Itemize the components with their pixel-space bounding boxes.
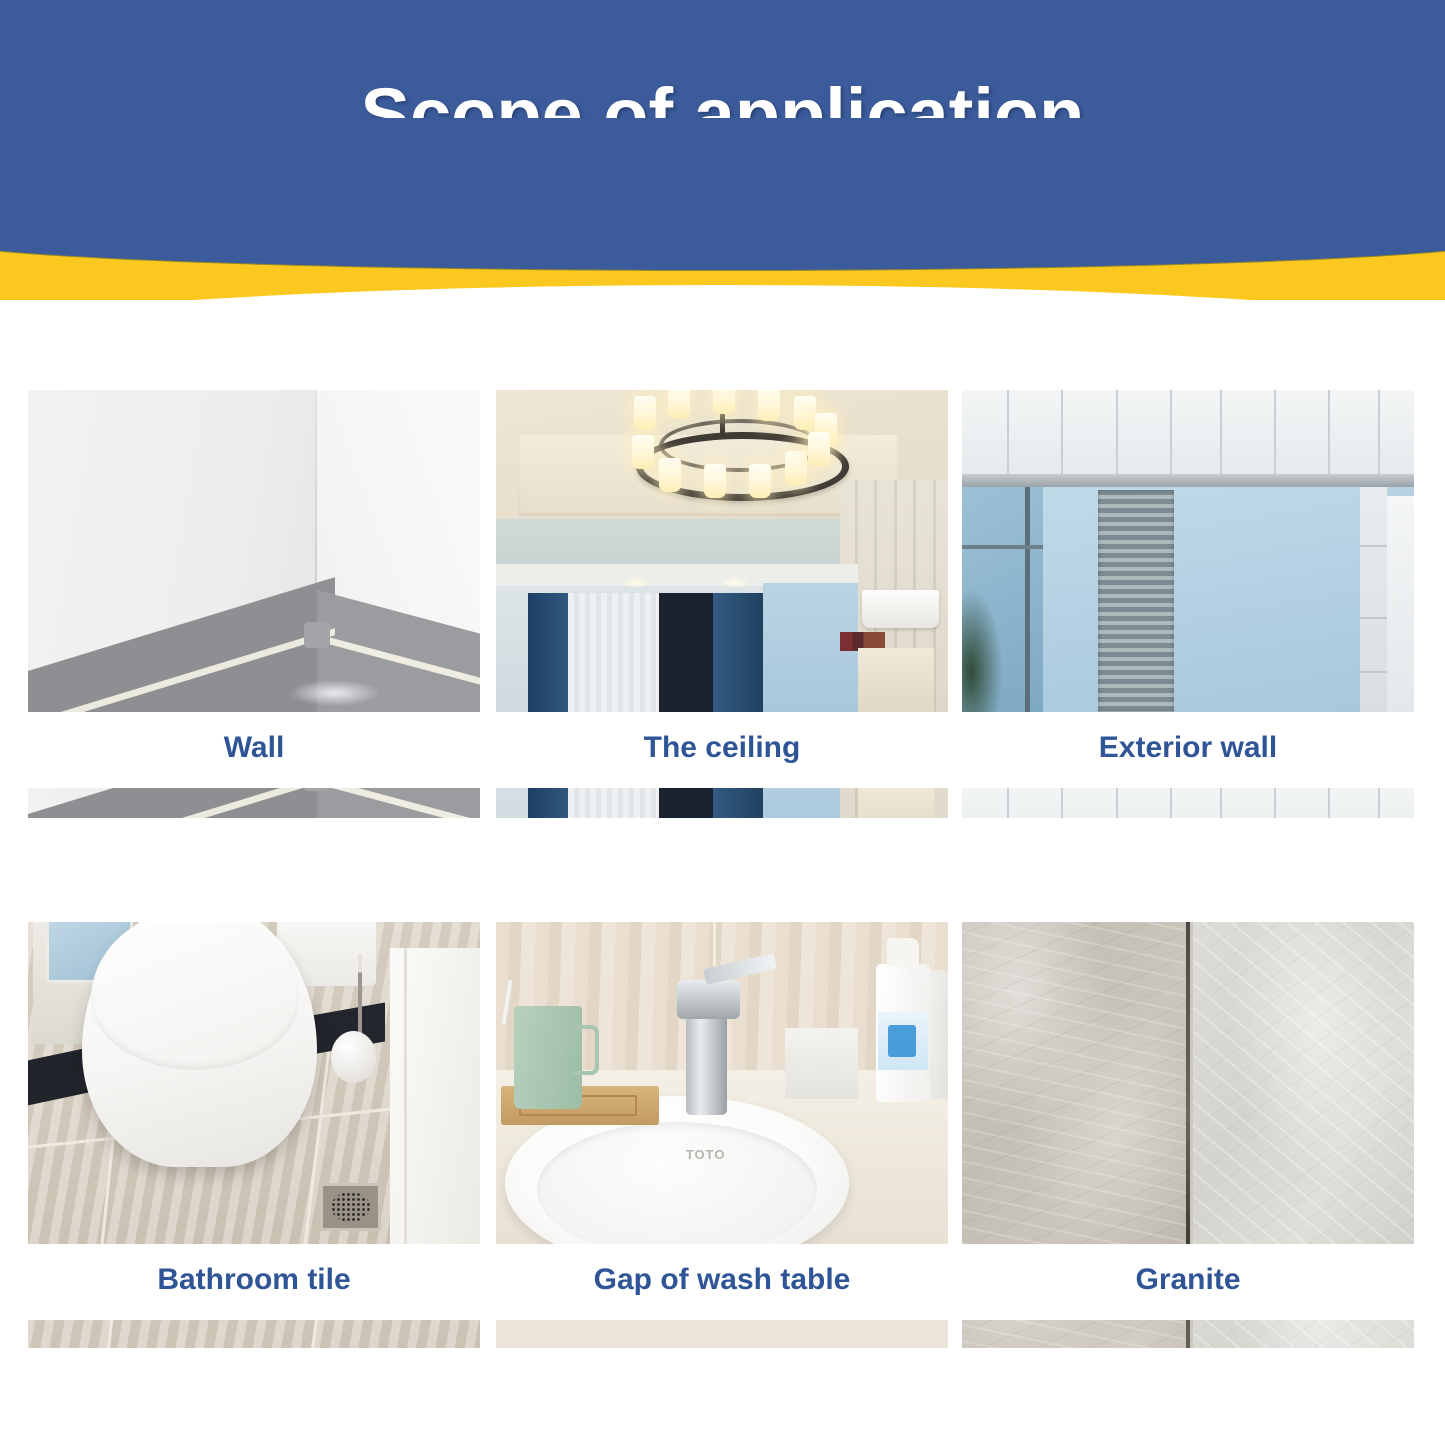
ceiling-photo-bleed-strip (496, 788, 948, 818)
bathroom-tile-photo-bleed-strip (28, 1320, 480, 1348)
wall-photo-bleed-strip (28, 788, 480, 818)
floor-drain-icon (320, 1183, 380, 1231)
granite-slab-photo (962, 922, 1414, 1244)
cell-label-wall: Wall (28, 731, 480, 765)
wash-table-photo-bleed-strip (496, 1320, 948, 1348)
header-blue-curve (0, 118, 1445, 270)
grid-cell-bathroom-tile[interactable]: Bathroom tile (28, 922, 480, 1342)
wash-table-photo: TOTO (496, 922, 948, 1244)
cell-label-granite: Granite (962, 1263, 1414, 1297)
grid-cell-exterior-wall[interactable]: Exterior wall (962, 390, 1414, 800)
granite-photo-bleed-strip (962, 1320, 1414, 1348)
grid-cell-wall[interactable]: Wall (28, 390, 480, 800)
sink-brand-text: TOTO (686, 1147, 726, 1162)
cell-label-bathroom-tile: Bathroom tile (28, 1263, 480, 1297)
exterior-wall-photo-bleed-strip (962, 788, 1414, 818)
cell-label-exterior-wall: Exterior wall (962, 731, 1414, 765)
exterior-wall-photo (962, 390, 1414, 712)
ceiling-chandelier-photo (496, 390, 948, 712)
grid-cell-wash-table[interactable]: TOTO Gap of wash table (496, 922, 948, 1342)
cell-label-ceiling: The ceiling (496, 731, 948, 765)
wall-corner-photo (28, 390, 480, 712)
cell-label-wash-table: Gap of wash table (496, 1263, 948, 1297)
grid-cell-ceiling[interactable]: The ceiling (496, 390, 948, 800)
header-banner: Scope of application (0, 0, 1445, 300)
application-scope-grid: Wall (0, 300, 1445, 1445)
bathroom-tile-photo (28, 922, 480, 1244)
grid-cell-granite[interactable]: Granite (962, 922, 1414, 1342)
